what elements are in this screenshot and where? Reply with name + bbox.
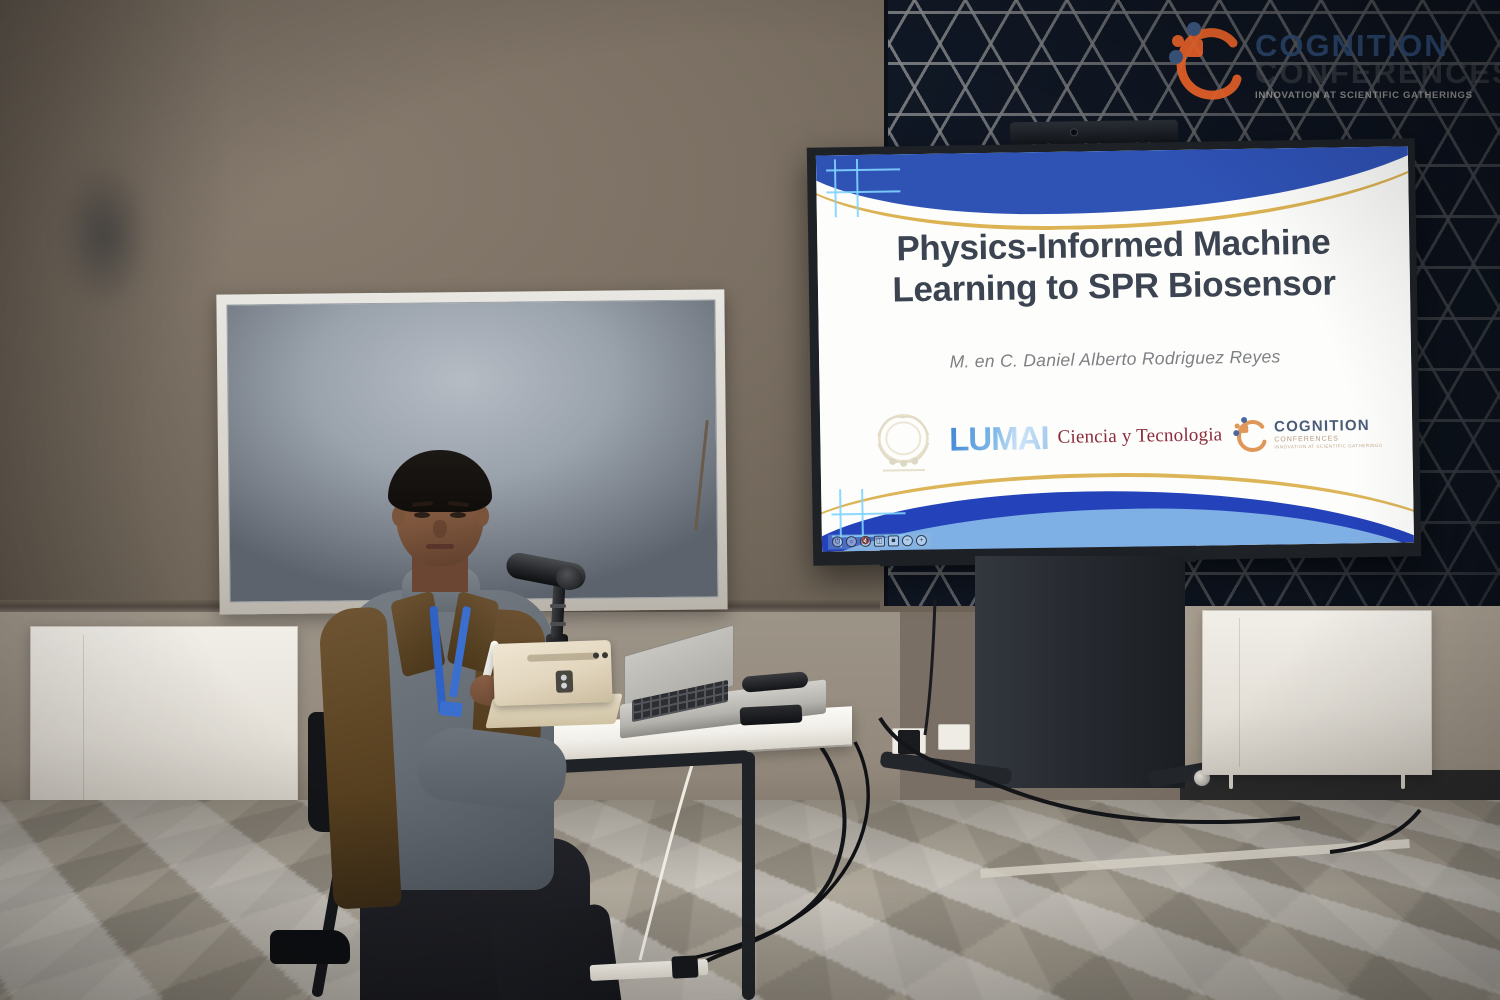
cognition-c-small-icon xyxy=(1231,416,1270,455)
logo-lumai: LUMAI xyxy=(949,419,1049,459)
cognition-logo-text: COGNITION CONFERENCES INNOVATION AT SCIE… xyxy=(1274,418,1383,450)
logo-cognition: COGNITION CONFERENCES INNOVATION AT SCIE… xyxy=(1231,414,1383,454)
tablet-camera-icon xyxy=(556,670,574,693)
input-icon[interactable]: ◫ xyxy=(874,536,885,547)
logo-university-seal xyxy=(866,405,941,476)
cognition-logo-line2: CONFERENCES xyxy=(1274,435,1382,444)
plus-icon[interactable]: + xyxy=(916,535,927,546)
minus-icon[interactable]: − xyxy=(902,535,913,546)
university-seal-icon xyxy=(866,405,941,476)
radiator-right xyxy=(1202,610,1432,775)
slide-title-line2: Learning to SPR Biosensor xyxy=(852,262,1377,312)
slide-author: M. en C. Daniel Alberto Rodriguez Reyes xyxy=(819,344,1411,374)
lumai-label: LUMAI xyxy=(949,419,1049,459)
stop-icon[interactable]: ■ xyxy=(888,535,899,546)
cognition-c-icon xyxy=(1163,19,1249,105)
microphone-ring-lower xyxy=(550,622,566,626)
speaker-shoe xyxy=(270,930,350,964)
display-stand-column xyxy=(975,556,1185,788)
display-osd-toolbar[interactable]: ⏻ ☼ 🔇 ◫ ■ − + xyxy=(828,533,931,550)
ciencia-label: Ciencia y Tecnologia xyxy=(1057,424,1222,449)
cognition-logo-line1: COGNITION xyxy=(1274,418,1382,435)
slide-title: Physics-Informed Machine Learning to SPR… xyxy=(817,220,1410,312)
power-plug xyxy=(898,730,920,754)
brightness-icon[interactable]: ☼ xyxy=(846,536,857,547)
microphone-ring-upper xyxy=(550,604,566,608)
tablet-in-folio-case[interactable] xyxy=(487,640,620,728)
power-icon[interactable]: ⏻ xyxy=(832,536,843,547)
slide-header-decoration xyxy=(816,146,1409,233)
cognition-watermark-text: COGNITION CONFERENCES INNOVATION AT SCIE… xyxy=(1255,24,1500,101)
radiator-left xyxy=(30,626,298,818)
mute-icon[interactable]: 🔇 xyxy=(860,536,871,547)
tablet-case-dots xyxy=(593,652,609,660)
display-screen: Physics-Informed Machine Learning to SPR… xyxy=(816,146,1414,551)
title-slide: Physics-Informed Machine Learning to SPR… xyxy=(816,146,1414,551)
desk-leg-front xyxy=(742,752,755,1000)
lanyard-badge xyxy=(439,701,462,717)
slide-gold-accent xyxy=(816,146,1409,233)
logo-ciencia-y-tecnologia: Ciencia y Tecnologia xyxy=(1057,424,1222,449)
cognition-logo-line3: INNOVATION AT SCIENTIFIC GATHERINGS xyxy=(1274,444,1382,450)
photo-scene: COGNITION CONFERENCES INNOVATION AT SCIE… xyxy=(0,0,1500,1000)
speaker-eye-right xyxy=(450,512,466,518)
speaker-nose xyxy=(433,520,447,538)
cognition-watermark: COGNITION CONFERENCES INNOVATION AT SCIE… xyxy=(1163,14,1493,110)
slide-logo-row: LUMAI Ciencia y Tecnologia xyxy=(866,397,1383,477)
whiteboard-reflection xyxy=(60,160,150,310)
cable-adapter xyxy=(740,704,803,725)
tablet-pen-slot xyxy=(527,652,599,662)
speaker-leg xyxy=(489,902,631,1000)
wall-outlet-right xyxy=(938,724,970,750)
speaker-mouth xyxy=(426,544,454,549)
laptop[interactable] xyxy=(620,640,840,736)
display-camera-bar xyxy=(1010,120,1178,145)
speaker-hair xyxy=(388,450,492,512)
tablet-case-back xyxy=(493,640,613,706)
presentation-display[interactable]: Physics-Informed Machine Learning to SPR… xyxy=(807,138,1421,565)
power-strip-plug xyxy=(671,955,698,978)
watermark-tagline: INNOVATION AT SCIENTIFIC GATHERINGS xyxy=(1255,91,1500,101)
camera-lens-icon xyxy=(1070,128,1078,136)
speaker-eye-left xyxy=(414,512,430,518)
watermark-line2: CONFERENCES xyxy=(1255,57,1500,88)
